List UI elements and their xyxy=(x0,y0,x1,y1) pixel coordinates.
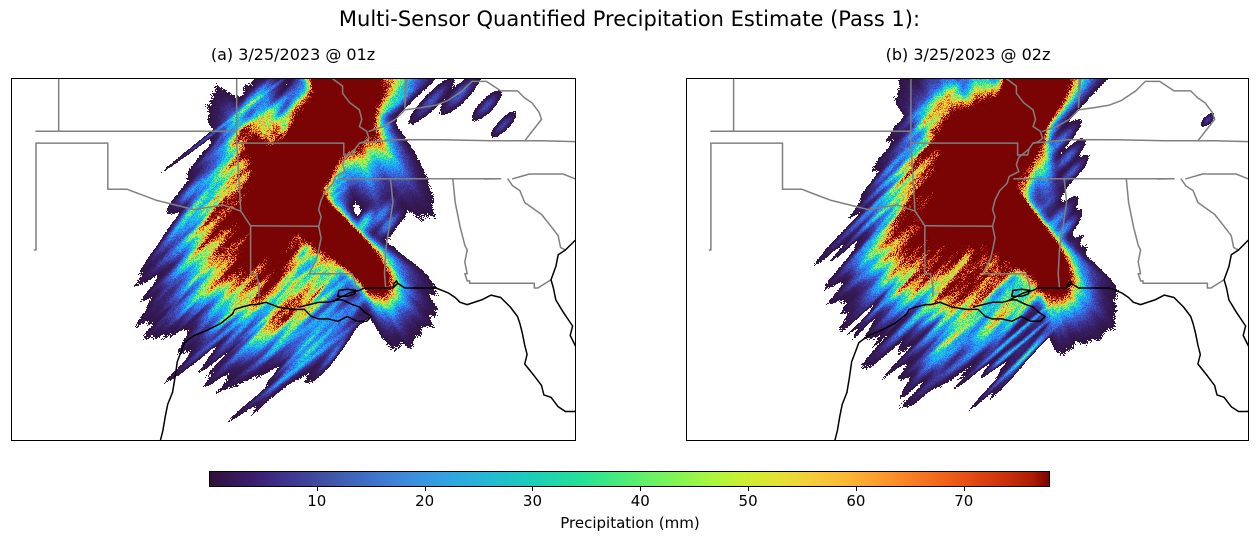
map-overlay-a xyxy=(12,79,575,440)
colorbar-tick-label: 30 xyxy=(512,492,552,510)
map-panel-b[interactable] xyxy=(686,78,1249,441)
colorbar-tick xyxy=(964,487,965,491)
panel-a-title: (a) 3/25/2023 @ 01z xyxy=(173,45,413,65)
figure-canvas: Multi-Sensor Quantified Precipitation Es… xyxy=(0,0,1259,543)
colorbar-tick-label: 20 xyxy=(405,492,445,510)
colorbar-tick xyxy=(640,487,641,491)
colorbar-tick xyxy=(856,487,857,491)
colorbar-tick-label: 60 xyxy=(836,492,876,510)
figure-title: Multi-Sensor Quantified Precipitation Es… xyxy=(0,6,1259,32)
colorbar[interactable] xyxy=(209,471,1050,487)
colorbar-tick xyxy=(748,487,749,491)
panel-b-title: (b) 3/25/2023 @ 02z xyxy=(848,45,1088,65)
colorbar-gradient xyxy=(209,471,1050,487)
colorbar-tick-label: 40 xyxy=(620,492,660,510)
colorbar-tick xyxy=(317,487,318,491)
colorbar-tick-label: 50 xyxy=(728,492,768,510)
colorbar-tick xyxy=(532,487,533,491)
colorbar-tick-label: 10 xyxy=(297,492,337,510)
map-overlay-b xyxy=(687,79,1248,440)
colorbar-axis-label: Precipitation (mm) xyxy=(430,514,830,532)
map-panel-a[interactable] xyxy=(11,78,576,441)
colorbar-tick-label: 70 xyxy=(944,492,984,510)
colorbar-tick xyxy=(425,487,426,491)
